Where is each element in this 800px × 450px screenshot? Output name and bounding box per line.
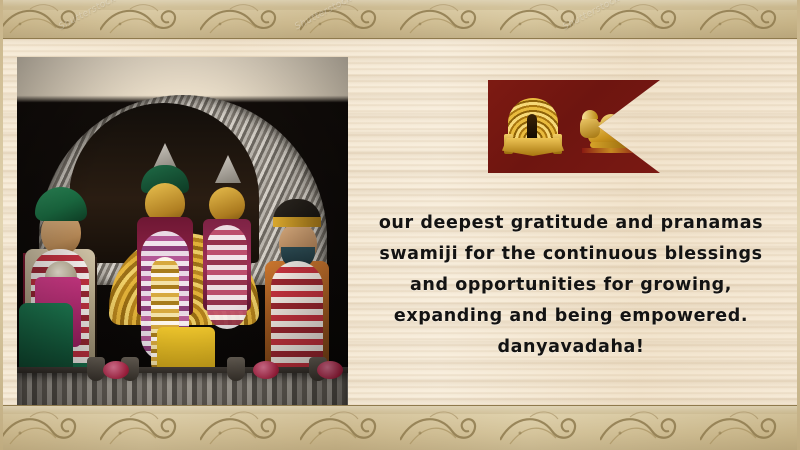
temple-altar-photo <box>17 57 348 407</box>
gratitude-message: our deepest gratitude and pranamas swami… <box>356 208 786 363</box>
message-line-1: our deepest gratitude and pranamas <box>356 208 786 239</box>
deity-silhouette <box>527 114 537 140</box>
nandi-base-slab <box>582 148 640 153</box>
message-line-5: danyavadaha! <box>356 332 786 363</box>
seated-deity-emblem <box>502 98 564 160</box>
sage-gold-headband <box>273 217 321 227</box>
top-ornamental-border <box>0 0 800 39</box>
consort-face <box>209 187 245 223</box>
consort-garland <box>207 225 247 329</box>
altar-ledge <box>17 373 348 407</box>
message-line-3: and opportunities for growing, <box>356 270 786 301</box>
central-deity-idol <box>137 165 193 315</box>
message-line-2: swamiji for the continuous blessings <box>356 239 786 270</box>
nandi-hump <box>600 114 622 128</box>
left-frame-edge <box>0 0 3 450</box>
consort-deity-idol <box>203 171 251 311</box>
nandi-horns-icon <box>582 110 598 119</box>
green-silk-cloth <box>19 303 73 377</box>
nandi-bull-emblem <box>580 110 642 154</box>
guru-green-turban <box>35 187 87 221</box>
bottom-ornamental-border <box>0 405 800 450</box>
flower-offering <box>103 361 129 379</box>
nandi-head <box>580 116 600 138</box>
math-pennant-flag <box>488 80 660 173</box>
oil-lamp <box>227 357 245 381</box>
message-line-4: expanding and being empowered. <box>356 301 786 332</box>
greeting-card: our deepest gratitude and pranamas swami… <box>0 0 800 450</box>
flower-offering <box>253 361 279 379</box>
flower-offering <box>317 361 343 379</box>
